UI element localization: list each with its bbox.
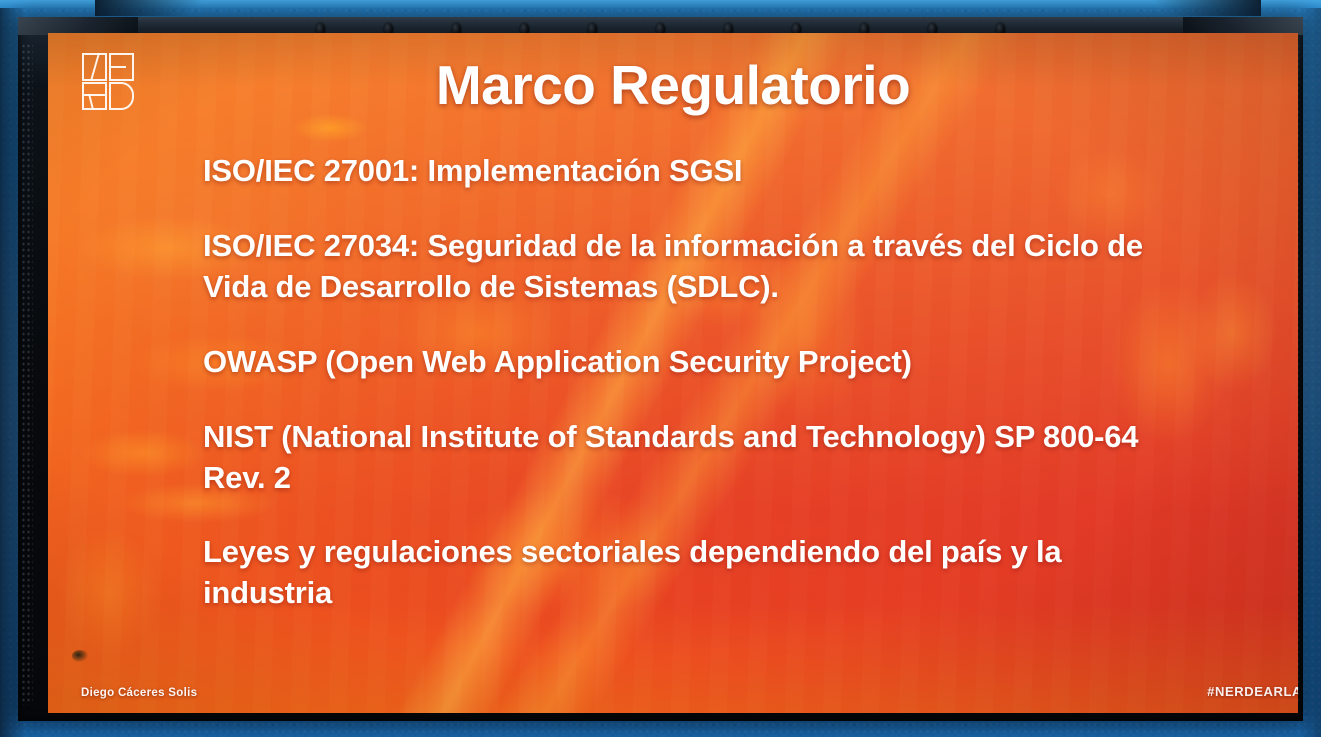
slide-bullet-list: ISO/IEC 27001: Implementación SGSI ISO/I… [203,151,1188,614]
event-hashtag: #NERDEARLA [1207,684,1298,699]
slide-bullet-item: Leyes y regulaciones sectoriales dependi… [203,532,1188,614]
projected-slide: Marco Regulatorio ISO/IEC 27001: Impleme… [48,33,1298,713]
slide-bullet-item: OWASP (Open Web Application Security Pro… [203,342,1188,383]
ceiling-shadow-left [95,0,225,16]
slide-bullet-item: NIST (National Institute of Standards an… [203,417,1188,499]
slide-content: Marco Regulatorio ISO/IEC 27001: Impleme… [48,33,1298,713]
speaker-name: Diego Cáceres Solis [81,687,197,699]
ceiling-shadow-right [1131,0,1261,16]
slide-bullet-item: ISO/IEC 27034: Seguridad de la informaci… [203,226,1188,308]
presentation-photo: Marco Regulatorio ISO/IEC 27001: Impleme… [0,0,1321,737]
projection-screen-frame: Marco Regulatorio ISO/IEC 27001: Impleme… [18,17,1303,721]
slide-bullet-item: ISO/IEC 27001: Implementación SGSI [203,151,1188,192]
slide-title: Marco Regulatorio [48,57,1298,115]
bezel-left-texture [21,43,33,705]
